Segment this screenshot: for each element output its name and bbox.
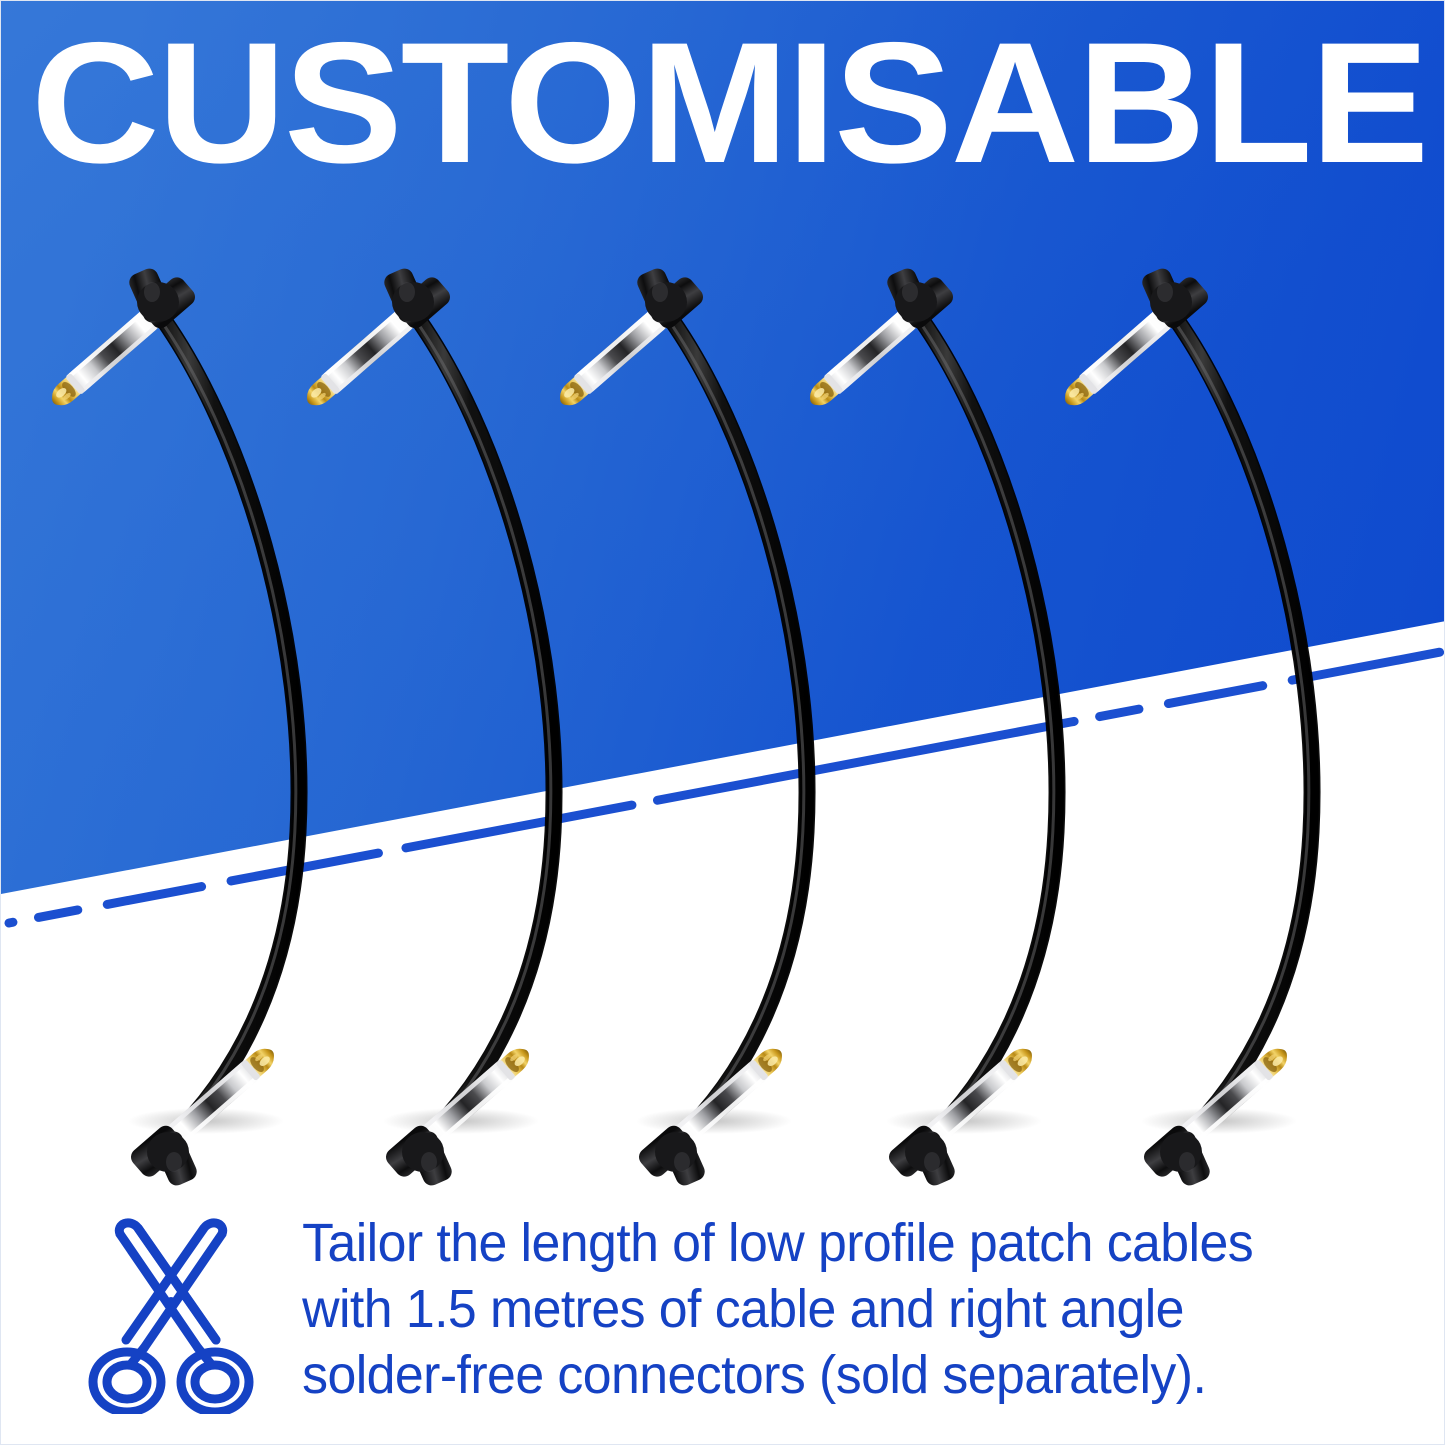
caption-text: Tailor the length of low profile patch c… bbox=[281, 1206, 1375, 1408]
caption-line-1: Tailor the length of low profile patch c… bbox=[302, 1210, 1375, 1276]
cable-4 bbox=[804, 266, 1057, 1189]
cable-3 bbox=[554, 266, 807, 1189]
caption-line-3: solder-free connectors (sold separately)… bbox=[302, 1342, 1375, 1408]
cable-5 bbox=[1059, 266, 1312, 1189]
caption-row: Tailor the length of low profile patch c… bbox=[61, 1206, 1421, 1421]
scissors-icon bbox=[76, 1214, 266, 1414]
product-feature-banner: CUSTOMISABLE bbox=[0, 0, 1445, 1445]
scissors-icon-wrap bbox=[61, 1206, 281, 1421]
cable-2 bbox=[301, 266, 554, 1189]
cable-1 bbox=[46, 266, 299, 1189]
scissors-pivot-dot bbox=[166, 1297, 176, 1307]
caption-line-2: with 1.5 metres of cable and right angle bbox=[302, 1276, 1375, 1342]
